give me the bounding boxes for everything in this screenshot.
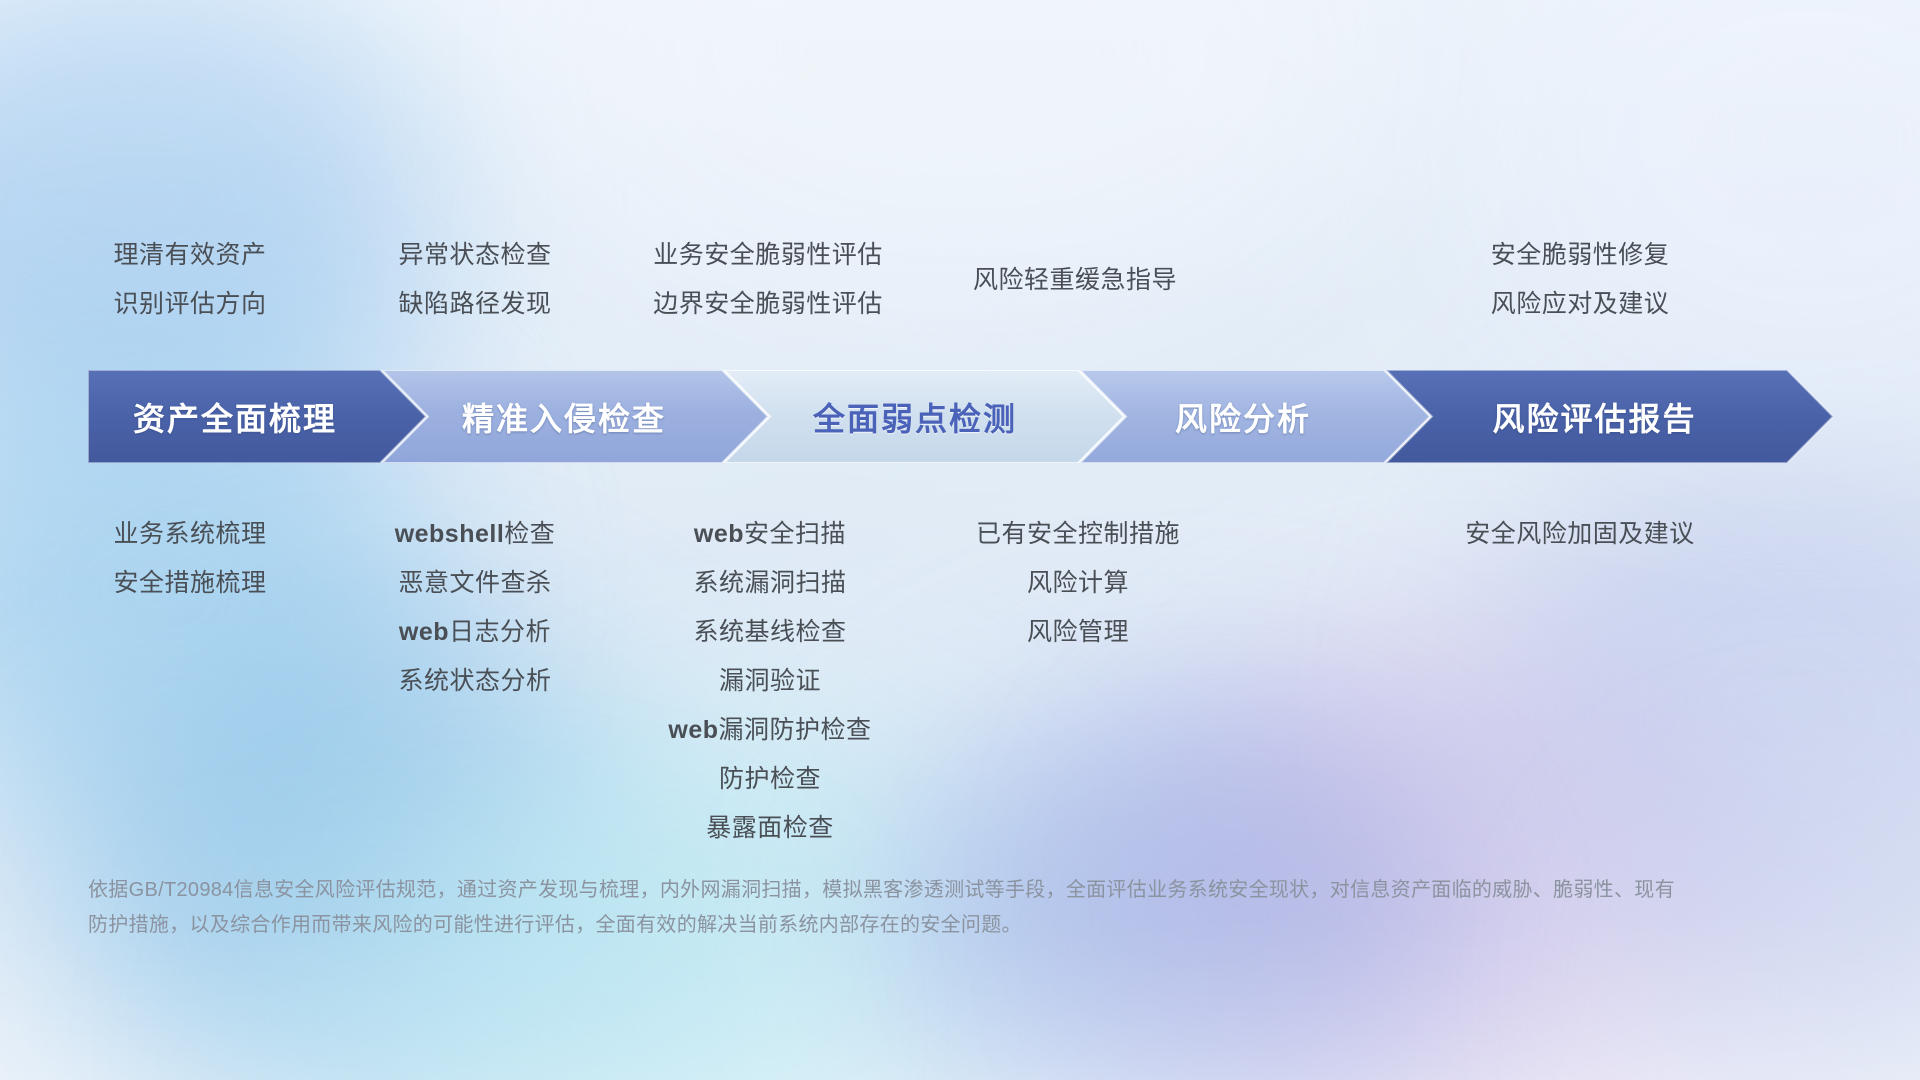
bottom-item: 安全措施梳理 bbox=[40, 559, 340, 608]
bottom-item: 系统状态分析 bbox=[325, 657, 625, 706]
bottom-item-keyword: web bbox=[694, 520, 744, 548]
bottom-item-keyword: webshell bbox=[395, 520, 505, 548]
bottom-item: 已有安全控制措施 bbox=[918, 510, 1238, 559]
stage-label: 风险分析 bbox=[1080, 370, 1430, 463]
stage-label: 全面弱点检测 bbox=[724, 370, 1124, 463]
bottom-item: 系统漏洞扫描 bbox=[620, 559, 920, 608]
bottom-item: 系统基线检查 bbox=[620, 608, 920, 657]
top-items-column-2: 异常状态检查 缺陷路径发现 bbox=[325, 231, 625, 329]
bottom-items-column-1: 业务系统梳理安全措施梳理 bbox=[40, 510, 340, 608]
bottom-items-column-5: 安全风险加固及建议 bbox=[1405, 510, 1755, 559]
top-item: 理清有效资产 bbox=[40, 231, 340, 280]
top-items-column-1: 理清有效资产 识别评估方向 bbox=[40, 231, 340, 329]
top-item: 业务安全脆弱性评估 bbox=[593, 231, 943, 280]
top-item: 识别评估方向 bbox=[40, 280, 340, 329]
top-items-column-4: 风险轻重缓急指导 bbox=[910, 256, 1240, 305]
bottom-item-keyword: web bbox=[668, 716, 718, 744]
bottom-item: web漏洞防护检查 bbox=[620, 706, 920, 755]
top-item: 风险轻重缓急指导 bbox=[910, 256, 1240, 305]
bottom-item: webshell检查 bbox=[325, 510, 625, 559]
stage-arrow-4[interactable]: 风险分析 bbox=[1080, 370, 1430, 463]
top-items-column-5: 安全脆弱性修复 风险应对及建议 bbox=[1405, 231, 1755, 329]
process-arrow-band: 资产全面梳理 精准入侵检查 bbox=[88, 370, 1833, 463]
bottom-item-keyword: web bbox=[399, 618, 449, 646]
top-item: 缺陷路径发现 bbox=[325, 280, 625, 329]
stage-label: 资产全面梳理 bbox=[88, 370, 426, 463]
bottom-item: 恶意文件查杀 bbox=[325, 559, 625, 608]
bottom-item: 漏洞验证 bbox=[620, 657, 920, 706]
bottom-item: 风险计算 bbox=[918, 559, 1238, 608]
stage-arrow-1[interactable]: 资产全面梳理 bbox=[88, 370, 426, 463]
bottom-item: web安全扫描 bbox=[620, 510, 920, 559]
bottom-items-column-3: web安全扫描系统漏洞扫描系统基线检查漏洞验证web漏洞防护检查防护检查暴露面检… bbox=[620, 510, 920, 853]
bottom-item: web日志分析 bbox=[325, 608, 625, 657]
bottom-item: 安全风险加固及建议 bbox=[1405, 510, 1755, 559]
footer-description: 依据GB/T20984信息安全风险评估规范，通过资产发现与梳理，内外网漏洞扫描，… bbox=[88, 873, 1688, 943]
bottom-item: 防护检查 bbox=[620, 755, 920, 804]
top-item: 安全脆弱性修复 bbox=[1405, 231, 1755, 280]
bottom-item: 暴露面检查 bbox=[620, 804, 920, 853]
top-item: 风险应对及建议 bbox=[1405, 280, 1755, 329]
process-diagram: 理清有效资产 识别评估方向 异常状态检查 缺陷路径发现 业务安全脆弱性评估 边界… bbox=[0, 0, 1920, 1080]
stage-arrow-2[interactable]: 精准入侵检查 bbox=[382, 370, 768, 463]
stage-arrow-5[interactable]: 风险评估报告 bbox=[1386, 370, 1833, 463]
stage-label: 精准入侵检查 bbox=[382, 370, 768, 463]
bottom-item: 业务系统梳理 bbox=[40, 510, 340, 559]
bottom-item: 风险管理 bbox=[918, 608, 1238, 657]
top-item: 异常状态检查 bbox=[325, 231, 625, 280]
stage-arrow-3[interactable]: 全面弱点检测 bbox=[724, 370, 1124, 463]
stage-label: 风险评估报告 bbox=[1386, 370, 1833, 463]
bottom-items-column-4: 已有安全控制措施风险计算风险管理 bbox=[918, 510, 1238, 657]
bottom-items-column-2: webshell检查恶意文件查杀web日志分析系统状态分析 bbox=[325, 510, 625, 706]
top-item: 边界安全脆弱性评估 bbox=[593, 280, 943, 329]
top-items-column-3: 业务安全脆弱性评估 边界安全脆弱性评估 bbox=[593, 231, 943, 329]
